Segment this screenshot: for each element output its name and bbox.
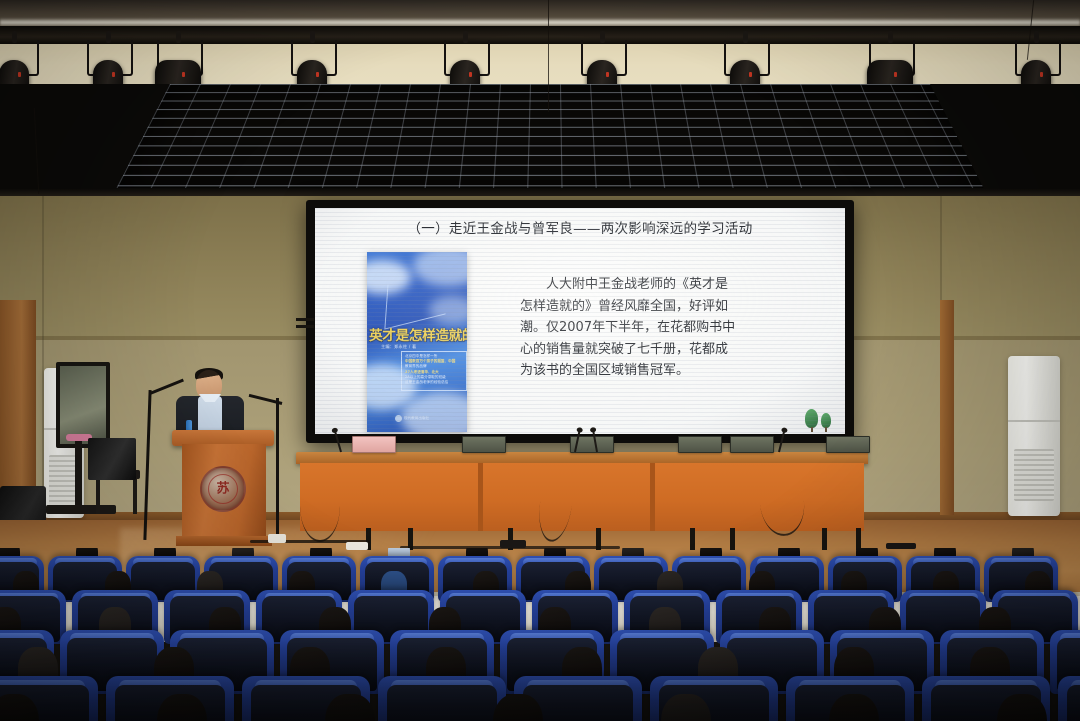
- slide-surface: （一）走近王金战与曾军良——两次影响深远的学习活动 英才是怎样造就的 主编：郑永…: [315, 208, 845, 434]
- book-blurb-line: 这是王金战老师的经验总结: [405, 380, 463, 385]
- book-title: 英才是怎样造就的: [369, 324, 467, 344]
- book-author: 主编：郑永柱 / 著: [381, 344, 416, 350]
- name-placard: [826, 436, 870, 453]
- monitor-cart-base: [46, 505, 116, 514]
- grille-slat: [112, 165, 987, 166]
- av-equipment-box: [88, 438, 136, 480]
- slide-title: （一）走近王金战与曾军良——两次影响深远的学习活动: [315, 217, 845, 237]
- microphone-stand: [276, 398, 279, 538]
- door-frame-right: [940, 300, 954, 515]
- slide-body-line: 潮。仅2007年下半年，在花都购书中: [520, 317, 820, 339]
- table-panel-divider: [478, 463, 483, 531]
- screen-clip: [296, 318, 314, 321]
- screen-clip: [296, 325, 314, 328]
- grille-slat: [112, 101, 987, 102]
- air-conditioner-right: [1008, 356, 1060, 516]
- auditorium-seat[interactable]: [378, 676, 506, 721]
- name-placard: [730, 436, 774, 453]
- book-blurb: 北京四中是怎样一所中国数百万个孩子的摇篮、中国教育界的品牌27人考进清华、北大2…: [401, 351, 467, 391]
- hanging-wire: [548, 0, 549, 112]
- slide-tree-decoration: [805, 409, 831, 428]
- monitor-cart-post: [75, 438, 82, 508]
- grille-slat: [112, 175, 987, 176]
- name-placard: [462, 436, 506, 453]
- power-strip: [268, 534, 286, 543]
- auditorium-lecture-photo: （一）走近王金战与曾军良——两次影响深远的学习活动 英才是怎样造就的 主编：郑永…: [0, 0, 1080, 721]
- book-publisher: 现代教育出版社: [395, 415, 429, 422]
- wood-panel-left: [0, 300, 36, 515]
- name-placard: [352, 436, 396, 453]
- slide-body-line: 为该书的全国区域销售冠军。: [520, 360, 820, 382]
- tree-icon: [805, 409, 818, 428]
- slide-body-line: 怎样造就的》曾经风靡全国，好评如: [520, 296, 820, 318]
- auditorium-seat[interactable]: [1058, 676, 1080, 721]
- audience-seating: [0, 548, 1080, 721]
- name-placard: [678, 436, 722, 453]
- slide-body-line: 心的销售量就突破了七千册，花都成: [520, 339, 820, 361]
- floor-cable: [300, 470, 340, 542]
- av-adapter: [500, 540, 526, 548]
- grille-slat: [112, 185, 987, 186]
- grille-slat: [112, 145, 987, 146]
- slide-body-line: 人大附中王金战老师的《英才是: [520, 274, 820, 296]
- school-emblem: 苏: [200, 466, 246, 512]
- book-cover-image: 英才是怎样造就的 主编：郑永柱 / 著 北京四中是怎样一所中国数百万个孩子的摇篮…: [367, 252, 467, 432]
- emblem-glyph: 苏: [216, 483, 229, 496]
- slide-body-text: 人大附中王金战老师的《英才是怎样造就的》曾经风靡全国，好评如潮。仅2007年下半…: [520, 274, 820, 382]
- publisher-logo-icon: [395, 415, 402, 422]
- table-panel-divider: [650, 463, 655, 531]
- grille-slat: [112, 118, 987, 119]
- grille-slat: [112, 109, 987, 110]
- grille-slat: [112, 84, 987, 85]
- ceiling-grille: [112, 84, 987, 196]
- grille-slat: [112, 92, 987, 93]
- tree-icon: [821, 413, 831, 428]
- grille-slat: [112, 136, 987, 137]
- projection-screen[interactable]: （一）走近王金战与曾军良——两次影响深远的学习活动 英才是怎样造就的 主编：郑永…: [306, 200, 854, 443]
